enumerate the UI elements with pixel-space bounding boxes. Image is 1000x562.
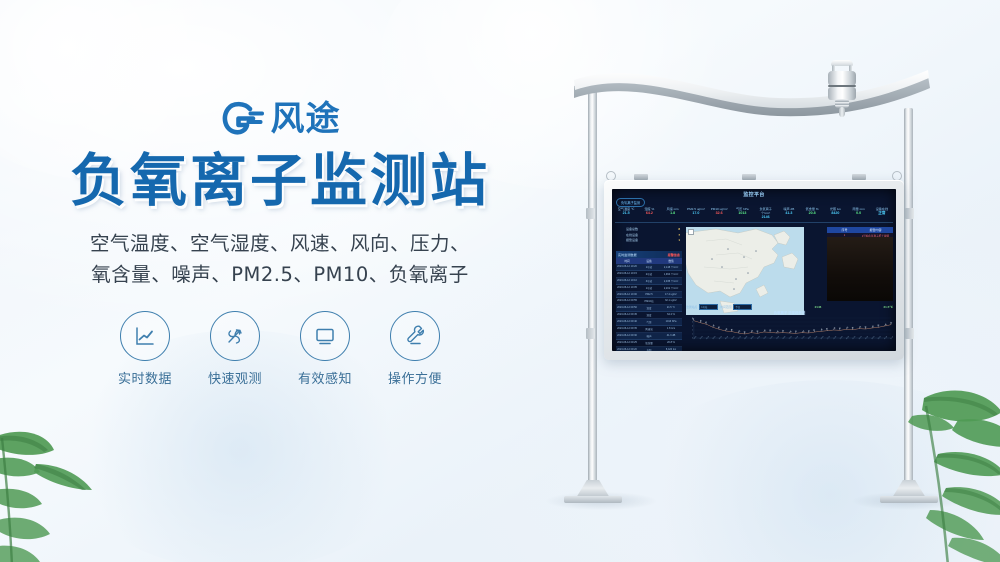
kpi-card: PM10 ug/m³32.6 (708, 207, 730, 220)
table-body: 2023-06-12 10:201号站2,148 个/cm³2023-06-12… (616, 264, 682, 351)
wind-barb-marker (826, 328, 828, 331)
table-cell: 17.4 ug/m³ (660, 293, 682, 296)
kpi-value: 0.0 (848, 211, 870, 216)
chart-x-tick: 17:00 (801, 336, 805, 340)
feature-icon-wrap (210, 311, 260, 361)
wind-barb-marker (865, 326, 867, 329)
chart-range-select[interactable]: 今日 (733, 304, 752, 310)
mini-stats: 设备总数8在线设备7报警设备1 (626, 227, 680, 244)
dashboard-tag: 负氧离子监测 (616, 198, 645, 207)
wind-barb-marker (852, 327, 854, 330)
table-cell: 32.1 ug/m³ (660, 299, 682, 303)
kpi-value: 32.6 (708, 211, 730, 216)
kpi-card: 风速 m/s1.8 (662, 207, 684, 220)
monitoring-station: 监控平台 负氧离子监测 空气温度 ℃21.5湿度 %64.2风速 m/s1.8P… (500, 60, 1000, 530)
table-cell: 2,035 个/cm³ (660, 279, 682, 283)
wind-barb-marker (813, 329, 816, 332)
chart-readout-2: 21.5℃ (884, 305, 893, 309)
page-title: 负氧离子监测站 (0, 150, 560, 214)
table-cell: 8,420 lux (660, 348, 682, 351)
table-cell: 气压 (638, 320, 660, 324)
table-cell: 2023-06-12 10:10 (616, 279, 638, 283)
table-row[interactable]: 2023-06-12 09:35风速站1.8 m/s (616, 326, 682, 333)
brand-name: 风途 (271, 102, 341, 136)
chart-x-tick: 21:00 (827, 336, 831, 340)
kpi-value: 1013 (731, 211, 753, 216)
chart-x-tick: 02:30 (859, 336, 863, 340)
side-clip-left-lower (586, 328, 595, 339)
monitor-icon (313, 324, 337, 348)
alert-column-header: 序号 (829, 228, 860, 232)
table-cell: 1,964 个/cm³ (660, 272, 682, 276)
radar-swirl-icon (223, 324, 247, 348)
chart-x-tick: 23:00 (839, 336, 843, 340)
promo-banner: 风途 负氧离子监测站 空气温度、空气湿度、风速、风向、压力、 氧含量、噪声、PM… (0, 0, 1000, 562)
kpi-card: 负氧离子 个/cm³2146 (755, 207, 777, 220)
trend-line-chart: 00:0001:0002:0003:0004:0005:0006:0007:00… (686, 315, 893, 345)
mini-stat-label: 报警设备 (626, 238, 638, 244)
table-cell: 41.3 dB (660, 334, 682, 338)
alert-column-header: 报警内容 (860, 228, 891, 232)
chart-x-tick: 04:30 (871, 336, 875, 340)
kpi-card: 噪声 dB41.3 (778, 207, 800, 220)
kpi-row: 空气温度 ℃21.5湿度 %64.2风速 m/s1.8PM2.5 ug/m³17… (615, 207, 893, 220)
chart-y-tick: 1 (692, 334, 693, 336)
table-cell: 2023-06-12 09:55 (616, 299, 638, 303)
table-cell: 2号站 (638, 272, 660, 276)
kpi-value: 17.0 (685, 211, 707, 216)
side-clip-right-upper (905, 208, 914, 219)
map-landmass (686, 227, 804, 315)
alarm-badge: 报警信息 (668, 252, 680, 257)
table-column-header: 设备 (638, 259, 660, 263)
subtitle-block: 空气温度、空气湿度、风速、风向、压力、 氧含量、噪声、PM2.5、PM10、负氧… (0, 228, 560, 291)
chart-y-tick: 4 (692, 326, 693, 328)
wind-barb-marker (796, 331, 798, 334)
chart-x-tick: 12:00 (769, 336, 773, 340)
kpi-value: 2146 (755, 215, 777, 220)
table-cell: 2023-06-12 10:00 (616, 293, 638, 296)
wind-barb-marker (713, 325, 715, 328)
feature-label: 实时数据 (108, 368, 182, 387)
subtitle-line-2: 氧含量、噪声、PM2.5、PM10、负氧离子 (0, 259, 560, 291)
subtitle-line-1: 空气温度、空气湿度、风速、风向、压力、 (0, 228, 560, 260)
table-cell: 2023-06-12 09:30 (616, 334, 638, 338)
table-title: 实时监测数据 (618, 252, 637, 257)
table-cell: PM10站 (638, 299, 660, 303)
kpi-card: 湿度 %64.2 (638, 207, 660, 220)
kpi-card: 氧含量 %20.8 (801, 207, 823, 220)
table-cell: 1号站 (638, 265, 660, 269)
kpi-value: 21.5 (615, 211, 637, 216)
wind-barb-marker (700, 320, 701, 323)
table-cell: 2023-06-12 09:40 (616, 320, 638, 324)
kpi-value: 20.8 (801, 211, 823, 216)
chart-x-tick: 05:00 (725, 336, 729, 340)
table-cell: 1013 hPa (660, 320, 682, 324)
trend-chart-panel: 监测站点 1号站 时间范围 今日 2146 21.5℃ 负氧离子 浓度趋势图 0… (686, 303, 893, 349)
brand-logo: 风途 (0, 96, 560, 142)
table-row[interactable]: 2023-06-12 09:25氧含量20.8 % (616, 340, 682, 347)
mini-stat-value: 1 (678, 238, 680, 244)
chart-x-tick: 10:00 (757, 336, 761, 340)
support-post-right (904, 108, 913, 498)
base-foot-right (880, 496, 938, 503)
table-cell: 2023-06-12 09:20 (616, 348, 638, 351)
chart-x-tick: 04:00 (719, 336, 723, 340)
feature-item-fast-observation[interactable]: 快速观测 (198, 311, 272, 387)
table-row[interactable]: 2023-06-12 10:152号站1,964 个/cm³ (616, 271, 682, 278)
feature-item-realtime-data[interactable]: 实时数据 (108, 311, 182, 387)
side-clip-left-upper (586, 208, 595, 219)
chart-x-tick: 11:00 (763, 336, 767, 340)
table-cell: 2023-06-12 10:15 (616, 272, 638, 276)
feature-label: 有效感知 (288, 368, 362, 387)
mini-stat: 报警设备1 (626, 238, 680, 244)
table-cell: 2023-06-12 10:20 (616, 265, 638, 269)
table-row[interactable]: 2023-06-12 10:201号站2,148 个/cm³ (616, 264, 682, 271)
camera-feed[interactable] (827, 237, 893, 301)
table-row[interactable]: 2023-06-12 09:55PM10站32.1 ug/m³ (616, 298, 682, 305)
kpi-value: 正常 (871, 211, 893, 216)
wave-canopy (570, 68, 934, 122)
chart-x-tick: 19:00 (814, 336, 818, 340)
kpi-card: 设备在线正常 (871, 207, 893, 220)
kpi-card: 雨量 mm0.0 (848, 207, 870, 220)
wind-barb-marker (731, 329, 733, 332)
chart-x-tick: 07:00 (738, 336, 742, 340)
dashboard-title: 监控平台 (612, 191, 896, 198)
table-cell: 噪声 (638, 334, 660, 338)
china-map[interactable] (686, 227, 804, 315)
feature-icon-wrap (120, 311, 170, 361)
feature-list: 实时数据 快速观测 (0, 311, 560, 387)
kpi-value: 8420 (824, 211, 846, 216)
support-post-left (588, 88, 597, 498)
data-table[interactable]: 实时监测数据 报警信息 时间设备数值 2023-06-12 10:201号站2,… (616, 251, 682, 351)
table-cell: 风速站 (638, 327, 660, 331)
base-foot-left (564, 496, 622, 503)
kpi-value: 64.2 (638, 211, 660, 216)
chart-x-tick: 08:00 (744, 336, 748, 340)
table-cell: PM2.5 (638, 293, 660, 296)
chart-y-tick: 2 (692, 330, 693, 332)
table-row[interactable]: 2023-06-12 09:30噪声41.3 dB (616, 333, 682, 340)
table-row[interactable]: 2023-06-12 10:051号站2,201 个/cm³ (616, 285, 682, 292)
table-cell: 光照 (638, 348, 660, 351)
chart-x-tick: 16:00 (795, 336, 799, 340)
hero-text-block: 风途 负氧离子监测站 空气温度、空气湿度、风速、风向、压力、 氧含量、噪声、PM… (0, 96, 560, 387)
table-cell: 3号站 (638, 279, 660, 283)
table-row[interactable]: 2023-06-12 09:20光照8,420 lux (616, 347, 682, 351)
table-cell: 20.8 % (660, 341, 682, 345)
map-layer-toggle[interactable] (688, 229, 694, 235)
chart-station-select[interactable]: 1号站 (699, 304, 718, 310)
table-header: 实时监测数据 报警信息 (616, 251, 682, 258)
table-cell: 1.8 m/s (660, 327, 682, 331)
display-enclosure: 监控平台 负氧离子监测 空气温度 ℃21.5湿度 %64.2风速 m/s1.8P… (604, 180, 904, 360)
wind-barb-marker (839, 327, 841, 330)
chart-x-tick: 02:00 (706, 336, 710, 340)
table-row[interactable]: 2023-06-12 09:50温度21.5 ℃ (616, 305, 682, 312)
wind-barb-marker (802, 331, 805, 334)
chart-x-tick: 13:00 (776, 336, 780, 340)
dashboard-screen[interactable]: 监控平台 负氧离子监测 空气温度 ℃21.5湿度 %64.2风速 m/s1.8P… (612, 189, 896, 351)
kpi-value: 1.8 (662, 211, 684, 216)
chart-toolbar: 监测站点 1号站 时间范围 今日 2146 21.5℃ (686, 303, 893, 310)
kpi-card: 空气温度 ℃21.5 (615, 207, 637, 220)
chart-x-tick: 18:00 (808, 336, 812, 340)
chart-x-tick: 20:00 (820, 336, 824, 340)
table-cell: 21.5 ℃ (660, 306, 682, 310)
kpi-name: 负氧离子 个/cm³ (755, 207, 777, 215)
chart-y-tick: 5 (692, 322, 693, 324)
chart-y-tick: 0 (692, 338, 693, 340)
chart-range-label: 时间范围 (720, 305, 731, 309)
chart-series-line (694, 321, 891, 334)
table-row[interactable]: 2023-06-12 09:40气压1013 hPa (616, 319, 682, 326)
table-cell: 1号站 (638, 286, 660, 290)
chart-x-tick: 03:30 (865, 336, 869, 340)
table-cell: 氧含量 (638, 341, 660, 345)
chart-x-tick: 06:00 (731, 336, 735, 340)
side-clip-right-lower (905, 328, 914, 339)
feature-item-effective-sensing[interactable]: 有效感知 (288, 311, 362, 387)
table-cell: 温度 (638, 306, 660, 310)
chart-axis (694, 318, 891, 338)
table-cell: 2023-06-12 09:25 (616, 341, 638, 345)
table-row[interactable]: 2023-06-12 09:45湿度64.2 % (616, 312, 682, 319)
table-row[interactable]: 2023-06-12 10:103号站2,035 个/cm³ (616, 278, 682, 285)
feature-icon-wrap (390, 311, 440, 361)
table-column-header: 时间 (616, 259, 638, 263)
chart-x-tick: 22:00 (833, 336, 837, 340)
table-cell: 湿度 (638, 313, 660, 317)
sensor-body-upper (828, 71, 856, 86)
chart-x-tick: 00:30 (846, 336, 850, 340)
kpi-card: 光照 lux8420 (824, 207, 846, 220)
chart-readout-1: 2146 (815, 305, 822, 309)
chart-x-tick: 01:30 (852, 336, 856, 340)
kpi-card: PM2.5 ug/m³17.0 (685, 207, 707, 220)
feature-label: 操作方便 (378, 368, 452, 387)
feature-icon-wrap (300, 311, 350, 361)
plant-bottom-left (0, 398, 138, 562)
table-cell: 2023-06-12 09:50 (616, 306, 638, 310)
wind-barb-marker (891, 322, 893, 325)
chart-x-tick: 06:30 (884, 336, 888, 340)
chart-x-tick: 14:00 (782, 336, 786, 340)
sensor-mount-stem (839, 107, 845, 117)
chart-x-tick: 01:00 (700, 336, 704, 340)
chart-x-tick: 05:30 (878, 336, 882, 340)
chart-x-tick: 15:00 (789, 336, 793, 340)
table-cell: 2,201 个/cm³ (660, 286, 682, 290)
wrench-icon (403, 324, 427, 348)
table-cell: 64.2 % (660, 313, 682, 317)
feature-item-easy-operation[interactable]: 操作方便 (378, 311, 452, 387)
table-cell: 2,148 个/cm³ (660, 265, 682, 269)
table-column-header: 数值 (660, 259, 682, 263)
chart-x-tick: 09:00 (750, 336, 754, 340)
table-cell: 2023-06-12 09:35 (616, 327, 638, 331)
wind-barb-marker (744, 331, 746, 334)
kpi-divider (615, 222, 893, 223)
ultrasonic-weather-sensor (823, 60, 861, 116)
wind-barb-marker (783, 330, 785, 333)
line-chart-icon (133, 324, 157, 348)
chart-x-tick: 03:00 (712, 336, 716, 340)
chart-filter-label: 监测站点 (686, 305, 697, 309)
chart-y-tick: 6 (692, 318, 693, 320)
wind-g-logo-icon (220, 101, 264, 137)
kpi-value: 41.3 (778, 211, 800, 216)
kpi-card: 气压 hPa1013 (731, 207, 753, 220)
chart-x-tick: 07:30 (890, 336, 893, 340)
feature-label: 快速观测 (198, 368, 272, 387)
table-cell: 2023-06-12 10:05 (616, 286, 638, 290)
table-cell: 2023-06-12 09:45 (616, 313, 638, 317)
